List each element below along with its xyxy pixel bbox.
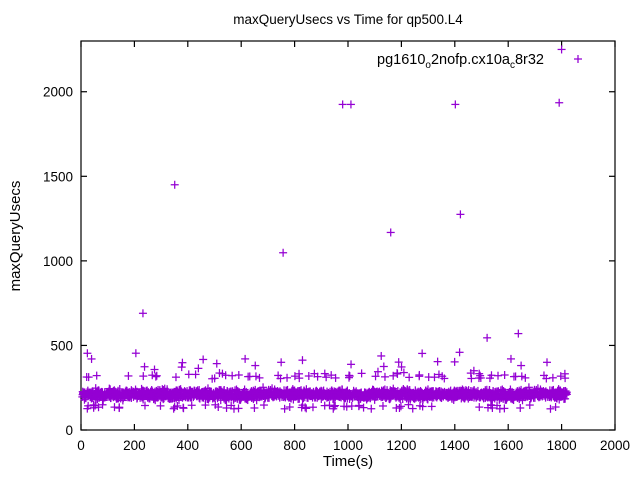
- svg-text:0: 0: [65, 423, 73, 438]
- chart-title: maxQueryUsecs vs Time for qp500.L4: [233, 12, 463, 27]
- svg-text:1200: 1200: [386, 438, 416, 453]
- svg-text:800: 800: [283, 438, 306, 453]
- y-axis-title: maxQueryUsecs: [7, 181, 24, 292]
- svg-text:1000: 1000: [333, 438, 363, 453]
- gnuplot-chart: maxQueryUsecs vs Time for qp500.L4 05001…: [0, 0, 640, 480]
- legend-label-part3: 8r32: [515, 52, 544, 68]
- svg-text:600: 600: [230, 438, 253, 453]
- svg-text:1800: 1800: [547, 438, 577, 453]
- legend-label-part2: 2nofp.cx10a: [431, 52, 511, 68]
- svg-text:200: 200: [123, 438, 146, 453]
- chart-svg: maxQueryUsecs vs Time for qp500.L4 05001…: [0, 0, 640, 480]
- svg-text:1400: 1400: [440, 438, 470, 453]
- legend-label-part1: pg1610: [377, 52, 425, 68]
- svg-text:1600: 1600: [493, 438, 523, 453]
- svg-text:2000: 2000: [600, 438, 630, 453]
- x-axis-title: Time(s): [323, 453, 373, 470]
- svg-text:1000: 1000: [43, 254, 73, 269]
- svg-text:0: 0: [77, 438, 85, 453]
- svg-text:400: 400: [177, 438, 200, 453]
- svg-text:1500: 1500: [43, 169, 73, 184]
- svg-text:2000: 2000: [43, 85, 73, 100]
- svg-text:500: 500: [50, 338, 73, 353]
